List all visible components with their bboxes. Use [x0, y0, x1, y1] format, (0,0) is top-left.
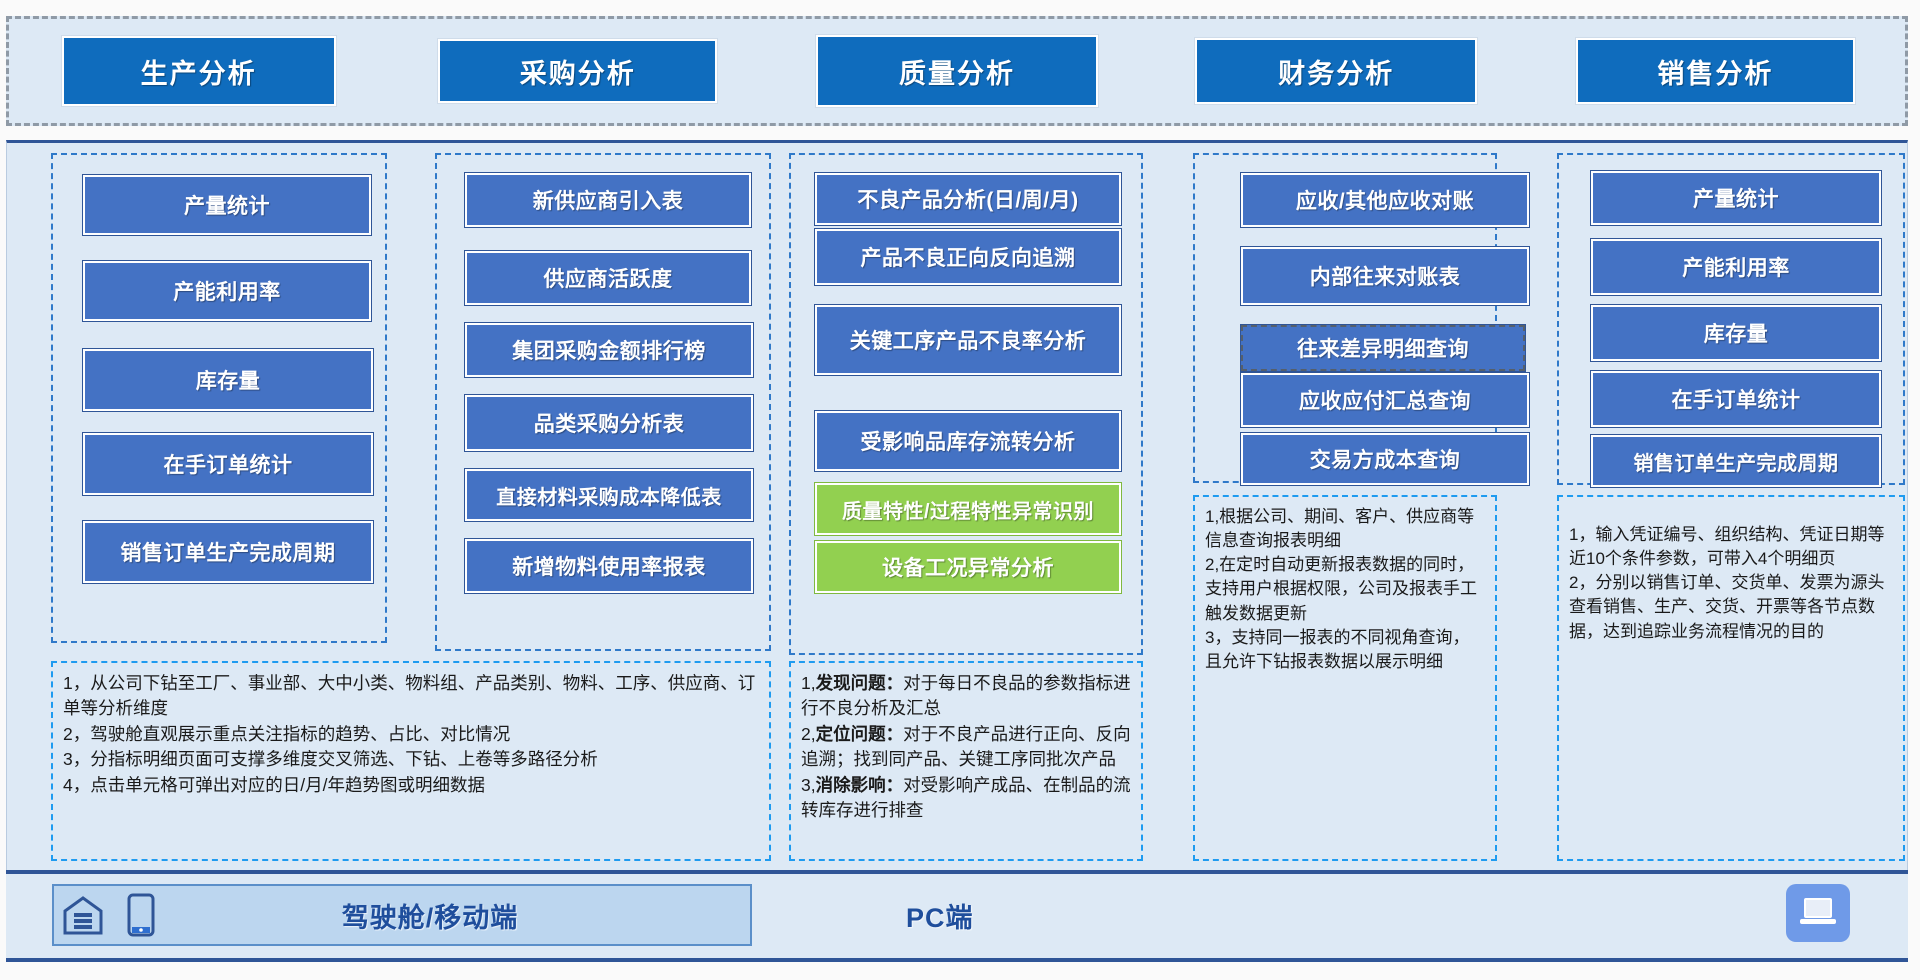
tile-production-4[interactable]: 销售订单生产完成周期: [83, 521, 373, 583]
desc-q1-num: 2,: [801, 724, 816, 744]
tile-production-2[interactable]: 库存量: [83, 349, 373, 411]
platform-bar: 驾驶舱/移动端 PC端: [6, 870, 1908, 962]
dashboard-poster: 生产分析 采购分析 质量分析 财务分析 销售分析 产量统计 产能利用率 库存量 …: [0, 0, 1920, 980]
description-finance-line-1: 2,在定时自动更新报表数据的同时，支持用户根据权限，公司及报表手工触发数据更新: [1205, 553, 1485, 625]
tile-procurement-0[interactable]: 新供应商引入表: [465, 173, 751, 227]
analysis-tab-bar: 生产分析 采购分析 质量分析 财务分析 销售分析: [6, 16, 1908, 126]
description-quality-item-1: 2,定位问题：对于不良产品进行正向、反向追溯；找到同产品、关键工序同批次产品: [801, 722, 1131, 773]
description-quality-item-2: 3,消除影响：对受影响产成品、在制品的流转库存进行排查: [801, 773, 1131, 824]
tile-finance-1[interactable]: 内部往来对账表: [1241, 247, 1529, 305]
description-production-line-0: 1，从公司下钻至工厂、事业部、大中小类、物料组、产品类别、物料、工序、供应商、订…: [63, 671, 759, 722]
tile-quality-1[interactable]: 产品不良正向反向追溯: [815, 229, 1121, 285]
tile-sales-2[interactable]: 库存量: [1591, 305, 1881, 361]
tile-sales-1[interactable]: 产能利用率: [1591, 239, 1881, 295]
tile-procurement-3[interactable]: 品类采购分析表: [465, 395, 753, 451]
tile-production-0[interactable]: 产量统计: [83, 175, 371, 235]
tab-finance-analysis[interactable]: 财务分析: [1195, 38, 1477, 104]
desc-q2-num: 3,: [801, 775, 816, 795]
tile-quality-3[interactable]: 受影响品库存流转分析: [815, 411, 1121, 471]
tile-production-1[interactable]: 产能利用率: [83, 261, 371, 321]
tab-procurement-analysis[interactable]: 采购分析: [438, 39, 717, 103]
desc-q0-num: 1,: [801, 673, 816, 693]
description-production-line-1: 2，驾驶舱直观展示重点关注指标的趋势、占比、对比情况: [63, 722, 759, 747]
tile-quality-0[interactable]: 不良产品分析(日/周/月): [815, 173, 1121, 225]
tab-sales-analysis[interactable]: 销售分析: [1576, 38, 1855, 104]
tab-slot-procurement: 采购分析: [388, 39, 767, 103]
description-sales-line-0: 1，输入凭证编号、组织结构、凭证日期等近10个条件参数，可带入4个明细页: [1569, 523, 1893, 571]
tile-finance-2[interactable]: 往来差异明细查询: [1241, 325, 1525, 371]
desc-q0-term: 发现问题：: [816, 673, 904, 693]
pc-label: PC端: [906, 896, 974, 935]
warehouse-icon: [54, 893, 112, 937]
description-production: 1，从公司下钻至工厂、事业部、大中小类、物料组、产品类别、物料、工序、供应商、订…: [51, 661, 771, 861]
tile-procurement-2[interactable]: 集团采购金额排行榜: [465, 323, 753, 377]
tab-slot-quality: 质量分析: [767, 35, 1146, 107]
tile-quality-4[interactable]: 质量特性/过程特性异常识别: [815, 483, 1121, 535]
cockpit-mobile-label: 驾驶舱/移动端: [170, 896, 750, 935]
tile-sales-4[interactable]: 销售订单生产完成周期: [1591, 435, 1881, 487]
tile-sales-0[interactable]: 产量统计: [1591, 171, 1881, 225]
desc-q2-term: 消除影响：: [816, 775, 904, 795]
desc-q1-term: 定位问题：: [816, 724, 904, 744]
main-content-panel: 产量统计 产能利用率 库存量 在手订单统计 销售订单生产完成周期 新供应商引入表…: [6, 140, 1908, 870]
description-finance-line-2: 3，支持同一报表的不同视角查询，且允许下钻报表数据以展示明细: [1205, 626, 1485, 674]
tile-procurement-5[interactable]: 新增物料使用率报表: [465, 539, 753, 593]
tile-sales-3[interactable]: 在手订单统计: [1591, 371, 1881, 427]
tab-quality-analysis[interactable]: 质量分析: [816, 35, 1098, 107]
description-sales-line-1: 2，分别以销售订单、交货单、发票为源头查看销售、生产、交货、开票等各节点数据，达…: [1569, 571, 1893, 643]
laptop-icon[interactable]: [1786, 884, 1850, 942]
tile-procurement-4[interactable]: 直接材料采购成本降低表: [465, 469, 753, 521]
tab-slot-production: 生产分析: [9, 36, 388, 106]
description-quality: 1,发现问题：对于每日不良品的参数指标进行不良分析及汇总 2,定位问题：对于不良…: [789, 661, 1143, 861]
tile-procurement-1[interactable]: 供应商活跃度: [465, 251, 751, 305]
tile-production-3[interactable]: 在手订单统计: [83, 433, 373, 495]
tab-production-analysis[interactable]: 生产分析: [62, 36, 336, 106]
description-sales: 1，输入凭证编号、组织结构、凭证日期等近10个条件参数，可带入4个明细页 2，分…: [1557, 495, 1905, 861]
tab-slot-finance: 财务分析: [1147, 38, 1526, 104]
tile-finance-3[interactable]: 应收应付汇总查询: [1241, 373, 1529, 427]
mobile-phone-icon: [112, 893, 170, 937]
description-quality-item-0: 1,发现问题：对于每日不良品的参数指标进行不良分析及汇总: [801, 671, 1131, 722]
description-finance: 1,根据公司、期间、客户、供应商等信息查询报表明细 2,在定时自动更新报表数据的…: [1193, 495, 1497, 861]
tile-quality-2[interactable]: 关键工序产品不良率分析: [815, 305, 1121, 375]
description-finance-line-0: 1,根据公司、期间、客户、供应商等信息查询报表明细: [1205, 505, 1485, 553]
description-production-line-3: 4，点击单元格可弹出对应的日/月/年趋势图或明细数据: [63, 773, 759, 798]
tile-finance-0[interactable]: 应收/其他应收对账: [1241, 173, 1529, 227]
description-production-line-2: 3，分指标明细页面可支撑多维度交叉筛选、下钻、上卷等多路径分析: [63, 747, 759, 772]
tab-slot-sales: 销售分析: [1526, 38, 1905, 104]
tile-quality-5[interactable]: 设备工况异常分析: [815, 541, 1121, 593]
cockpit-mobile-segment[interactable]: 驾驶舱/移动端: [52, 884, 752, 946]
tile-finance-4[interactable]: 交易方成本查询: [1241, 433, 1529, 485]
